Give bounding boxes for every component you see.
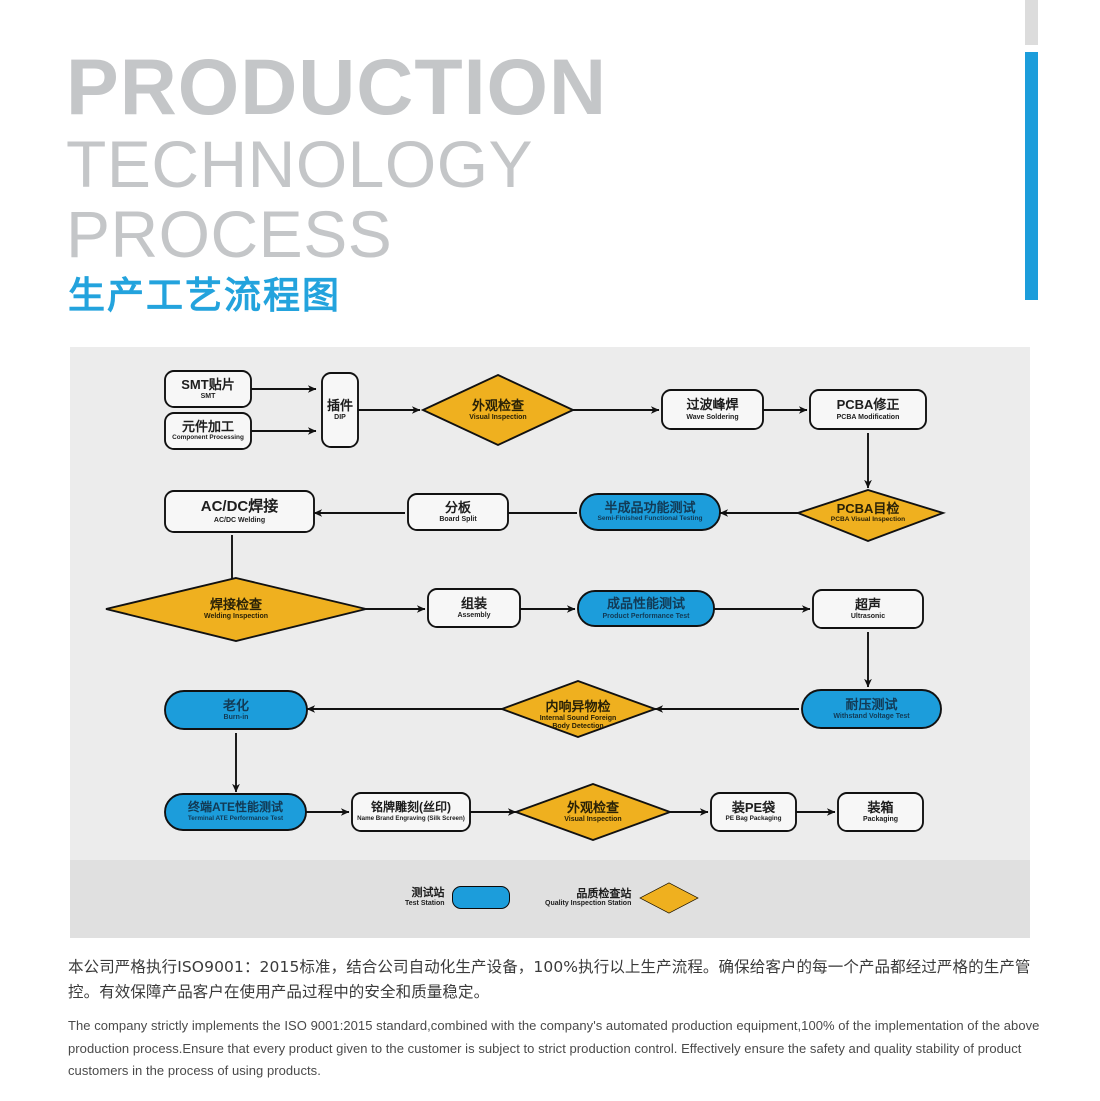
node-en: Name Brand Engraving (Silk Screen)	[357, 816, 465, 823]
node-cn: 老化	[223, 699, 249, 713]
node-cn: 外观检查	[472, 399, 524, 413]
node-cn: AC/DC焊接	[201, 499, 279, 515]
node-cn: 过波峰焊	[686, 398, 738, 412]
label-assembly[interactable]: 组装 Assembly	[428, 589, 520, 627]
decorative-bar-gray	[1025, 0, 1038, 45]
label-terminal-ate-performance-test[interactable]: 终端ATE性能测试 Terminal ATE Performance Test	[165, 794, 306, 830]
label-acdc-welding[interactable]: AC/DC焊接 AC/DC Welding	[165, 491, 314, 532]
label-visual-inspection-1[interactable]: 外观检查 Visual Inspection	[423, 392, 573, 428]
node-cn: 插件	[327, 399, 353, 413]
label-dip[interactable]: 插件 DIP	[322, 373, 358, 447]
node-en: SMT	[201, 393, 216, 400]
label-pcba-visual-inspection[interactable]: PCBA目检 PCBA Visual Inspection	[793, 495, 943, 531]
node-cn: 内响异物检	[545, 700, 610, 714]
node-en: Wave Soldering	[686, 414, 738, 421]
footer-paragraph-cn: 本公司严格执行ISO9001：2015标准，结合公司自动化生产设备，100%执行…	[68, 955, 1043, 1005]
legend-swatch-diamond	[640, 883, 699, 914]
node-cn: 半成品功能测试	[604, 501, 695, 515]
node-en: PCBA Modification	[837, 414, 900, 421]
node-cn: 终端ATE性能测试	[188, 801, 283, 814]
legend-en: Test Station	[405, 900, 445, 908]
legend-swatch-diamond-wrap	[638, 882, 700, 914]
node-en: Packaging	[863, 816, 898, 823]
node-cn: 分板	[445, 501, 471, 515]
node-en: Terminal ATE Performance Test	[188, 816, 283, 823]
label-visual-inspection-2[interactable]: 外观检查 Visual Inspection	[518, 794, 668, 830]
footer-text-block: 本公司严格执行ISO9001：2015标准，结合公司自动化生产设备，100%执行…	[68, 955, 1043, 1082]
node-en: Assembly	[457, 612, 490, 619]
label-burn-in[interactable]: 老化 Burn-in	[165, 691, 307, 729]
node-en: Visual Inspection	[564, 816, 621, 823]
node-en: Semi-Finished Functional Testing	[597, 516, 702, 523]
label-welding-inspection[interactable]: 焊接检查 Welding Inspection	[161, 591, 311, 627]
node-cn: SMT贴片	[181, 378, 234, 392]
label-withstand-voltage-test[interactable]: 耐压测试 Withstand Voltage Test	[802, 690, 941, 728]
heading-production: PRODUCTION	[66, 47, 607, 126]
node-en: Ultrasonic	[851, 613, 885, 620]
label-product-performance-test[interactable]: 成品性能测试 Product Performance Test	[578, 591, 714, 626]
legend-cn: 品质检查站	[545, 888, 631, 901]
node-en: Product Performance Test	[602, 613, 689, 620]
footer-paragraph-en: The company strictly implements the ISO …	[68, 1015, 1043, 1082]
node-en: Welding Inspection	[204, 613, 268, 620]
heading-subtitle-cn: 生产工艺流程图	[68, 277, 341, 314]
node-cn: 超声	[855, 598, 881, 612]
node-en: Board Split	[439, 516, 476, 523]
label-ultrasonic[interactable]: 超声 Ultrasonic	[813, 590, 923, 628]
node-en: Internal Sound Foreign Body Detection	[530, 715, 626, 730]
legend-label-quality-inspection-station: 品质检查站 Quality Inspection Station	[545, 888, 631, 909]
node-cn: 装PE袋	[732, 801, 775, 815]
label-name-brand-engraving[interactable]: 铭牌雕刻(丝印) Name Brand Engraving (Silk Scre…	[352, 793, 470, 831]
node-cn: 铭牌雕刻(丝印)	[371, 801, 451, 814]
node-cn: 外观检查	[567, 801, 619, 815]
legend-item-test-station: 测试站 Test Station	[405, 886, 510, 909]
label-internal-sound-foreign-body-detection[interactable]: 内响异物检 Internal Sound Foreign Body Detect…	[503, 694, 653, 736]
node-en: Withstand Voltage Test	[833, 713, 909, 720]
legend-cn: 测试站	[405, 887, 445, 900]
heading-process: PROCESS	[66, 201, 392, 267]
legend-en: Quality Inspection Station	[545, 900, 631, 908]
node-cn: 成品性能测试	[607, 597, 685, 611]
node-en: Component Processing	[172, 435, 244, 442]
label-packaging[interactable]: 装箱 Packaging	[838, 793, 923, 831]
heading-technology: TECHNOLOGY	[66, 131, 533, 197]
node-en: Burn-in	[224, 714, 249, 721]
node-en: PE Bag Packaging	[725, 816, 781, 823]
node-cn: PCBA修正	[837, 398, 900, 412]
node-cn: 组装	[461, 597, 487, 611]
page-header: PRODUCTION TECHNOLOGY PROCESS 生产工艺流程图	[0, 0, 1100, 340]
label-pcba-modification[interactable]: PCBA修正 PCBA Modification	[810, 390, 926, 429]
label-board-split[interactable]: 分板 Board Split	[408, 494, 508, 530]
node-en: PCBA Visual Inspection	[831, 517, 905, 524]
decorative-bar-blue	[1025, 52, 1038, 300]
legend-swatch-pill	[452, 886, 510, 909]
label-pe-bag-packaging[interactable]: 装PE袋 PE Bag Packaging	[711, 793, 796, 831]
label-semi-finished-functional-testing[interactable]: 半成品功能测试 Semi-Finished Functional Testing	[580, 494, 720, 530]
node-cn: PCBA目检	[837, 502, 900, 516]
node-en: DIP	[334, 414, 346, 421]
node-cn: 耐压测试	[845, 698, 897, 712]
label-smt[interactable]: SMT贴片 SMT	[165, 371, 251, 407]
legend-item-quality-inspection-station: 品质检查站 Quality Inspection Station	[545, 882, 700, 914]
node-cn: 装箱	[867, 801, 893, 815]
node-en: AC/DC Welding	[214, 517, 265, 524]
node-cn: 元件加工	[182, 420, 234, 434]
node-en: Visual Inspection	[469, 414, 526, 421]
label-wave-soldering[interactable]: 过波峰焊 Wave Soldering	[662, 390, 763, 429]
label-component-processing[interactable]: 元件加工 Component Processing	[165, 413, 251, 449]
legend-label-test-station: 测试站 Test Station	[405, 887, 445, 908]
node-cn: 焊接检查	[210, 598, 262, 612]
